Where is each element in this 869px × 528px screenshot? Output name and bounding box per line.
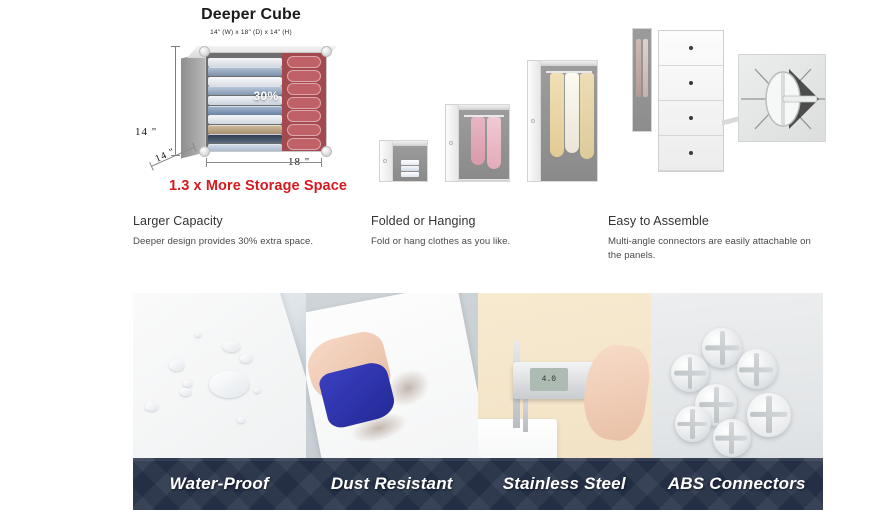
storage-space-tagline: 1.3 x More Storage Space	[133, 178, 383, 194]
dimension-height-label: 14 "	[135, 126, 157, 138]
rolled-garment	[287, 124, 321, 136]
water-droplet	[237, 417, 245, 423]
cube-connector-icon	[199, 146, 210, 157]
feature-title: Easy to Assemble	[608, 214, 818, 228]
feature-description: Fold or hang clothes as you like.	[371, 235, 591, 249]
open-cube-section	[632, 28, 652, 132]
rolled-garment	[287, 110, 321, 122]
folded-garment	[401, 172, 419, 177]
cube-connector-icon	[321, 46, 332, 57]
cube-connector-icon	[199, 46, 210, 57]
feature-item-larger-capacity: Larger Capacity Deeper design provides 3…	[133, 214, 358, 249]
rolled-garment	[287, 83, 321, 95]
hanging-garment	[565, 73, 579, 153]
dimensions-note: 14" (W) x 18" (D) x 14" (H)	[133, 29, 369, 36]
feature-title: Folded or Hanging	[371, 214, 591, 228]
rolled-garment	[287, 70, 321, 82]
rolled-garment	[287, 97, 321, 109]
connector-detail-icon	[739, 55, 827, 143]
cube-graphic: 30%	[181, 44, 331, 160]
cube-door	[527, 60, 540, 182]
folded-garment	[208, 134, 282, 143]
dimension-width-line	[206, 162, 322, 163]
cube-body	[392, 140, 428, 182]
water-droplet	[223, 341, 240, 352]
water-droplet	[240, 354, 252, 363]
folded-garment	[401, 160, 419, 165]
cube-body	[458, 104, 510, 182]
hanging-garment	[636, 39, 641, 97]
abs-connector	[702, 328, 742, 368]
folded-garment	[208, 58, 282, 67]
water-droplet	[145, 402, 158, 411]
extra-space-badge: 30%	[254, 89, 279, 103]
banner-label-abs-connectors: ABS Connectors	[651, 458, 824, 510]
double-cube-unit	[458, 104, 510, 182]
hand	[579, 341, 651, 444]
folded-garment	[208, 77, 282, 86]
triple-cube-unit	[540, 60, 598, 182]
cube-cell	[659, 66, 723, 101]
cube-connector-icon	[321, 146, 332, 157]
hanging-garment	[580, 73, 594, 159]
feature-description: Deeper design provides 30% extra space.	[133, 235, 358, 249]
deeper-cube-illustration: 14 " 30% 18 " 14 "	[133, 38, 373, 173]
cube-cell	[659, 31, 723, 66]
banner-label-water-proof: Water-Proof	[133, 458, 306, 510]
folded-garment	[208, 115, 282, 124]
cube-configurations-illustration	[390, 22, 610, 182]
feature-description: Multi-angle connectors are easily attach…	[608, 235, 818, 263]
cube-cell	[659, 101, 723, 136]
cube-cell	[659, 136, 723, 171]
feature-item-easy-to-assemble: Easy to Assemble Multi-angle connectors …	[608, 214, 818, 263]
cube-front-face: 30%	[205, 52, 327, 152]
tall-wardrobe-unit	[658, 30, 724, 172]
feature-banner: Water-Proof Dust Resistant Stainless Ste…	[133, 458, 823, 510]
caliper-display: 4.0	[530, 368, 568, 391]
folded-garment	[208, 106, 282, 115]
page-title: Deeper Cube	[133, 6, 369, 24]
dimension-height-line	[175, 46, 176, 156]
cube-side-face	[181, 52, 207, 158]
rolled-garment	[287, 138, 321, 150]
extra-space-overlay	[282, 53, 326, 152]
folded-garment	[208, 67, 282, 76]
abs-connector	[737, 349, 777, 389]
hanging-garment	[487, 117, 501, 169]
folded-garment	[208, 125, 282, 134]
abs-connector	[747, 393, 791, 437]
cube-door	[445, 104, 458, 182]
feature-list: Larger Capacity Deeper design provides 3…	[133, 214, 833, 276]
cube-body	[540, 60, 598, 182]
banner-label-stainless-steel: Stainless Steel	[478, 458, 651, 510]
cube-shelf	[459, 179, 509, 181]
rolled-garment	[287, 56, 321, 68]
single-cube-unit	[392, 140, 428, 182]
banner-label-dust-resistant: Dust Resistant	[306, 458, 479, 510]
feature-item-folded-or-hanging: Folded or Hanging Fold or hang clothes a…	[371, 214, 591, 249]
assembly-illustration	[650, 22, 865, 182]
hanging-garment	[643, 39, 648, 97]
abs-connector	[713, 419, 751, 457]
abs-connector	[675, 406, 711, 442]
feature-title: Larger Capacity	[133, 214, 358, 228]
product-infographic: Deeper Cube 14" (W) x 18" (D) x 14" (H) …	[0, 0, 869, 528]
cube-door	[379, 140, 392, 182]
folded-garment	[401, 166, 419, 171]
hanging-garment	[471, 117, 485, 165]
hanging-garment	[550, 73, 564, 157]
water-droplet	[183, 380, 192, 387]
connector-closeup-callout	[738, 54, 826, 142]
water-droplet	[209, 371, 249, 398]
folded-garment	[208, 144, 282, 152]
abs-connector	[671, 354, 709, 392]
